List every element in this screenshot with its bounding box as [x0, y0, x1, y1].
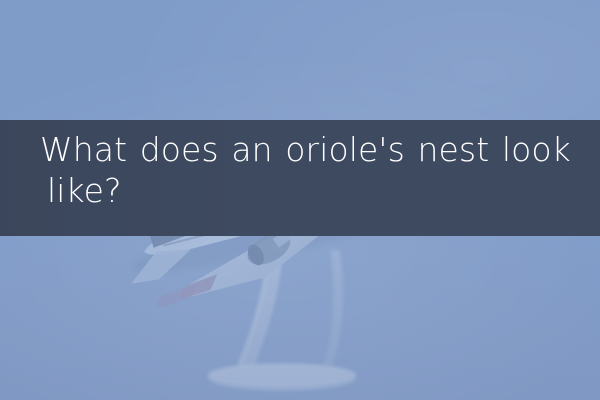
question-line-2: like?: [40, 170, 588, 211]
question-card: Mesa Smiles: [0, 0, 600, 400]
question-text: What does an oriole's nest look like?: [40, 129, 588, 211]
question-line-1: What does an oriole's nest look: [40, 129, 588, 170]
